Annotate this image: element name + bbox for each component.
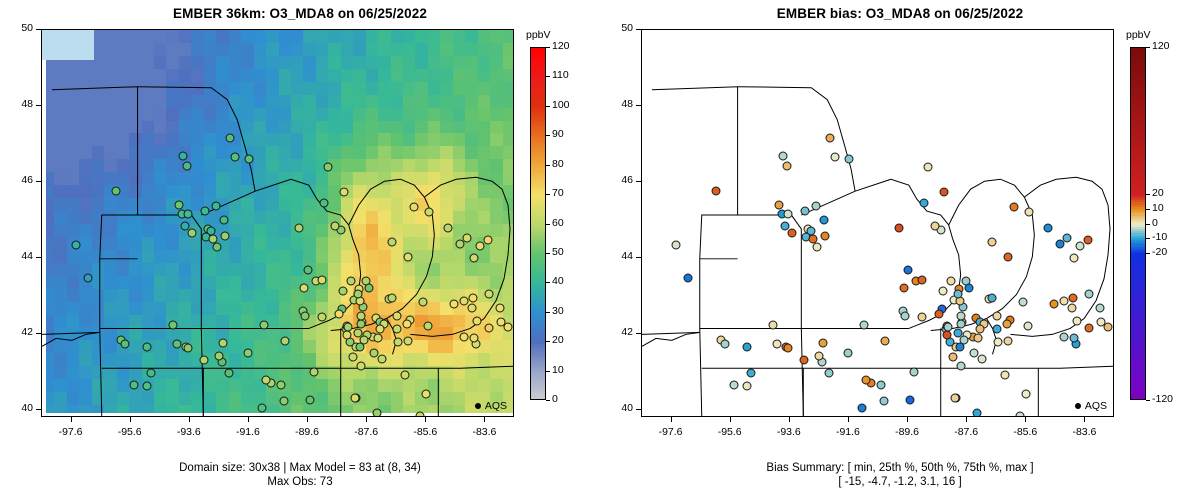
colorbar-tick-label: 90 [552, 128, 564, 140]
colorbar-tickmark [546, 312, 550, 313]
colorbar-tickmark [1146, 194, 1150, 195]
colorbar-tickmark [1146, 224, 1150, 225]
colorbar-tick-label: 0 [552, 393, 558, 405]
colorbar-tick-label: -10 [1152, 231, 1167, 243]
colorbar-tick-label: 40 [552, 275, 564, 287]
colorbar-tickmark [546, 106, 550, 107]
colorbar-tick-label: 10 [552, 364, 564, 376]
colorbar-gradient [530, 47, 546, 400]
colorbar-tickmark [546, 253, 550, 254]
colorbar-tick-label: 110 [552, 69, 569, 81]
bias-colorbar: ppbV-120-20-1001020120 [600, 0, 1200, 502]
model-colorbar: ppbV0102030405060708090100110120 [0, 0, 600, 502]
colorbar-tickmark [546, 282, 550, 283]
colorbar-tickmark [546, 165, 550, 166]
colorbar-tick-label: 100 [552, 99, 570, 111]
colorbar-tick-label: -120 [1152, 393, 1173, 405]
colorbar-tickmark [1146, 209, 1150, 210]
colorbar-tick-label: 120 [552, 40, 570, 52]
colorbar-tickmark [546, 371, 550, 372]
colorbar-tickmark [1146, 400, 1150, 401]
colorbar-tickmark [546, 400, 550, 401]
colorbar-tickmark [1146, 47, 1150, 48]
colorbar-tickmark [1146, 253, 1150, 254]
panel-bias: EMBER bias: O3_MDA8 on 06/25/2022 [600, 0, 1200, 502]
colorbar-segment [531, 399, 545, 400]
colorbar-tick-label: 60 [552, 217, 564, 229]
colorbar-tick-label: 50 [552, 246, 564, 258]
colorbar-segment [1131, 399, 1145, 400]
panel-model: EMBER 36km: O3_MDA8 on 06/25/2022 [0, 0, 600, 502]
colorbar-tick-label: 20 [552, 334, 564, 346]
colorbar-tickmark [546, 341, 550, 342]
colorbar-tickmark [546, 47, 550, 48]
colorbar-tick-label: 30 [552, 305, 564, 317]
colorbar-gradient [1130, 47, 1146, 400]
colorbar-tickmark [1146, 238, 1150, 239]
colorbar-tick-label: -20 [1152, 246, 1167, 258]
colorbar-tick-label: 120 [1152, 40, 1170, 52]
colorbar-tick-label: 0 [1152, 217, 1158, 229]
colorbar-tick-label: 20 [1152, 187, 1164, 199]
colorbar-tickmark [546, 194, 550, 195]
colorbar-tick-label: 80 [552, 158, 564, 170]
colorbar-tickmark [546, 135, 550, 136]
figure-root: EMBER 36km: O3_MDA8 on 06/25/2022 [0, 0, 1200, 502]
colorbar-tickmark [546, 76, 550, 77]
colorbar-tickmark [546, 224, 550, 225]
colorbar-units-label: ppbV [1126, 29, 1151, 41]
colorbar-tick-label: 70 [552, 187, 564, 199]
colorbar-tick-label: 10 [1152, 202, 1164, 214]
colorbar-units-label: ppbV [526, 29, 551, 41]
